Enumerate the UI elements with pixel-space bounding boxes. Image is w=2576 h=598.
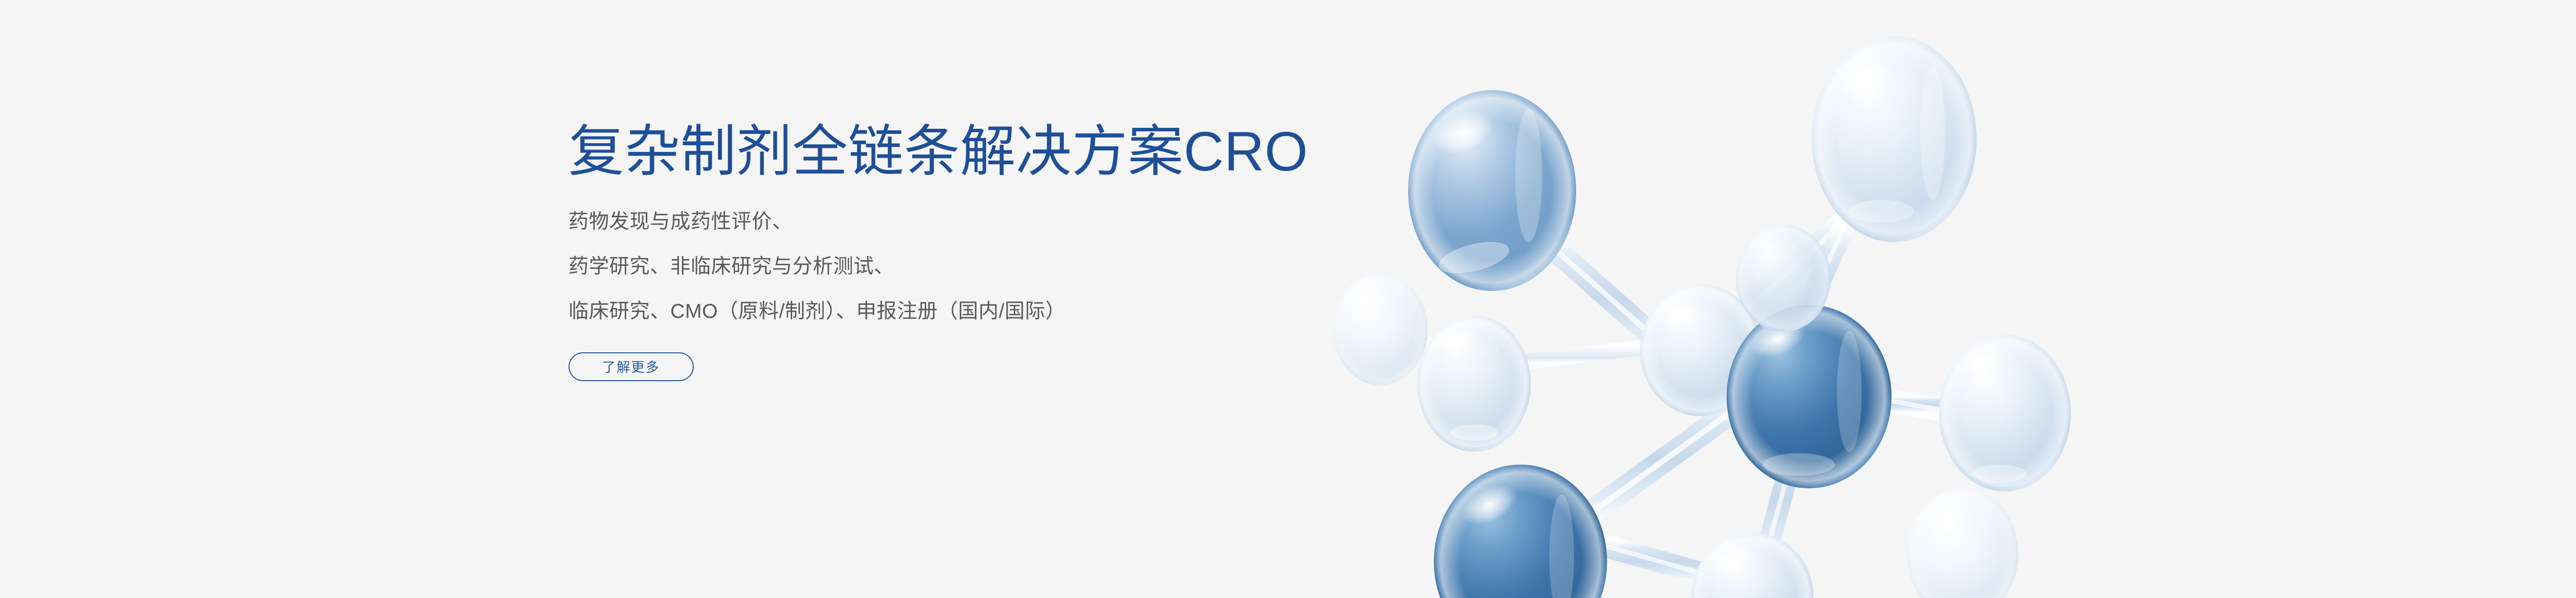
atom-sphere bbox=[1434, 465, 1607, 598]
hero-copy-block: 复杂制剂全链条解决方案CRO 药物发现与成药性评价、 药学研究、非临床研究与分析… bbox=[568, 122, 1445, 381]
page-title: 复杂制剂全链条解决方案CRO bbox=[568, 122, 1445, 182]
atom-sphere bbox=[1939, 335, 2071, 491]
subtitle-line-3: 临床研究、CMO（原料/制剂）、申报注册（国内/国际） bbox=[568, 289, 1445, 334]
atom-sphere bbox=[1736, 225, 1831, 332]
subtitle-line-2: 药学研究、非临床研究与分析测试、 bbox=[568, 244, 1445, 289]
atom-sphere bbox=[1907, 488, 2018, 598]
atom-sphere bbox=[1640, 284, 1762, 416]
atom-sphere bbox=[1692, 533, 1813, 598]
subtitle-line-1: 药物发现与成药性评价、 bbox=[568, 199, 1445, 244]
atom-sphere bbox=[1727, 305, 1892, 488]
hero-subtitle-list: 药物发现与成药性评价、 药学研究、非临床研究与分析测试、 临床研究、CMO（原料… bbox=[568, 199, 1445, 334]
atom-sphere bbox=[1812, 36, 1977, 242]
hero-banner: 复杂制剂全链条解决方案CRO 药物发现与成药性评价、 药学研究、非临床研究与分析… bbox=[0, 0, 2576, 598]
learn-more-button[interactable]: 了解更多 bbox=[568, 352, 694, 381]
